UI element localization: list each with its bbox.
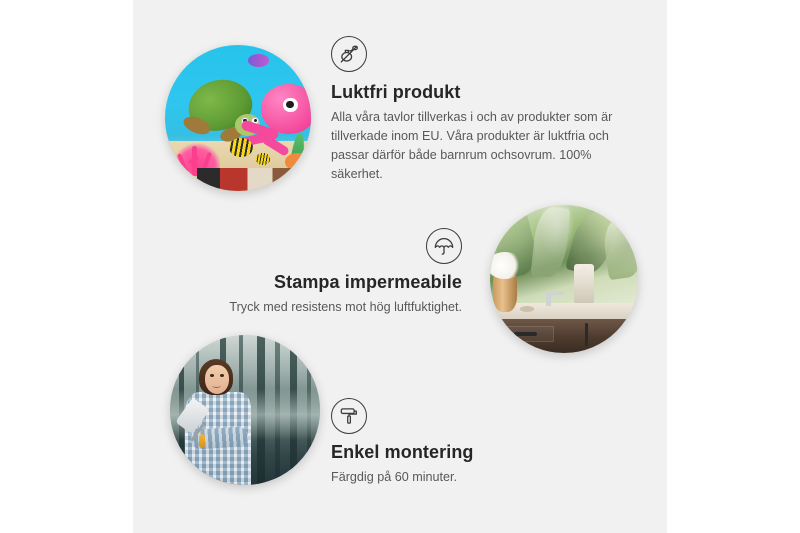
- soap-dish: [520, 306, 535, 312]
- feature-odour-free: Luktfri produkt Alla våra tavlor tillver…: [331, 36, 621, 184]
- woman-smile: [212, 383, 221, 388]
- feature-title: Enkel montering: [331, 442, 621, 463]
- drawer-handle: [514, 332, 538, 336]
- bathroom-mirror: [574, 264, 593, 304]
- paint-roller-handle: [199, 434, 205, 448]
- feature-title: Luktfri produkt: [331, 82, 621, 103]
- product-image-woman-with-paint-roller[interactable]: [170, 335, 320, 485]
- feature-description: Färgdig på 60 minuter.: [331, 468, 621, 487]
- forest-photo: [170, 335, 320, 485]
- feature-waterproof-print: Stampa impermeabile Tryck med resistens …: [170, 228, 462, 317]
- striped-fish-small: [256, 153, 271, 165]
- woman-eye-left: [210, 374, 214, 377]
- woman-eye-right: [220, 374, 224, 377]
- underwater-illustration: [165, 45, 311, 191]
- feature-title: Stampa impermeabile: [170, 272, 462, 293]
- woman-face: [205, 365, 229, 394]
- octopus-eye: [283, 98, 298, 113]
- product-image-underwater-kids-scene[interactable]: [165, 45, 311, 191]
- purple-fish: [248, 54, 268, 67]
- striped-fish-large: [229, 138, 252, 157]
- white-flowers: [490, 252, 523, 279]
- umbrella-icon: [426, 228, 462, 264]
- bathroom-photo: [490, 205, 638, 353]
- feature-description: Tryck med resistens mot hög luftfuktighe…: [170, 298, 462, 317]
- paint-roller-icon: [331, 398, 367, 434]
- scene-foreground-strip: [197, 168, 302, 191]
- cabinet-handle: [585, 323, 589, 345]
- product-feature-banner: Luktfri produkt Alla våra tavlor tillver…: [0, 0, 800, 533]
- product-image-bathroom-leaf-wallpaper[interactable]: [490, 205, 638, 353]
- feature-easy-installation: Enkel montering Färgdig på 60 minuter.: [331, 398, 621, 487]
- feature-description: Alla våra tavlor tillverkas i och av pro…: [331, 108, 621, 184]
- faucet-base: [546, 291, 550, 306]
- no-odour-spray-bottle-icon: [331, 36, 367, 72]
